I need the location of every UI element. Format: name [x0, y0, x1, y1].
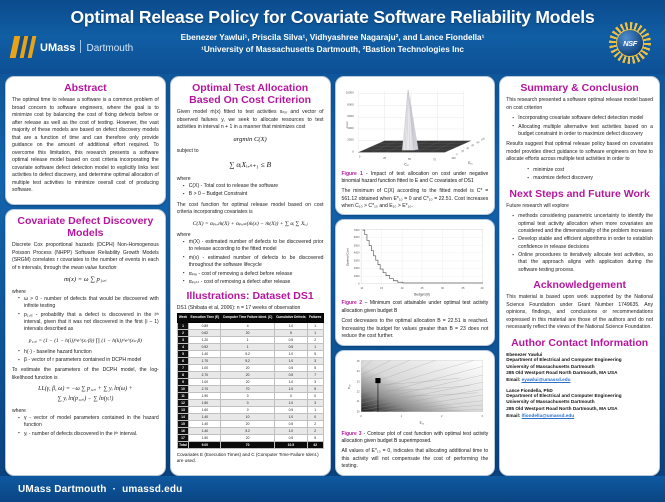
formula-loglikelihood-2: ∑ yᵢ ln(p₁,ₓᵢ) − ∑ ln(yᵢ!): [12, 396, 159, 404]
optimal-point-marker: [375, 378, 380, 383]
cost-function-intro: The cost function for optimal release mo…: [177, 202, 324, 217]
illustrations-subtitle: DS1 (Shibata et al, 2006): n = 17 weeks …: [177, 305, 324, 311]
table-cell: 1.50: [189, 399, 221, 406]
table-cell: 5.2: [221, 357, 274, 364]
nsf-logo-text: NSF: [623, 39, 637, 48]
table-cell: 3: [177, 336, 188, 343]
axis-tick: 40: [465, 146, 469, 150]
table-cell: 5: [307, 364, 323, 371]
table-head: Week Execution Time (E) Computer Time Fa…: [177, 314, 323, 323]
axis-tick: 3: [481, 413, 483, 417]
table-cell: 5: [307, 350, 323, 357]
list-item: h(·) - baseline hazard function: [19, 349, 159, 356]
table-cell: 0.5: [274, 364, 307, 371]
axis-tick: 2: [441, 413, 443, 417]
axis-label-optimal-cost: Optimal Cost: [345, 248, 349, 266]
axis-tick: 22: [356, 389, 359, 393]
loglikelihood-intro: To estimate the parameters of the DCPH m…: [12, 367, 159, 382]
table-cell: 1.70: [189, 357, 221, 364]
table-cell: 4: [177, 343, 188, 350]
figure-2-discussion: Cost decreases to the optimal allocation…: [342, 318, 489, 341]
contact-university: University of Massachusetts Dartmouth: [506, 399, 653, 406]
table-cell: 1.40: [189, 427, 221, 434]
axis-tick: 35: [461, 286, 464, 290]
allocation-subject-to: subject to: [177, 148, 324, 154]
axis-tick: 15: [380, 286, 383, 290]
table-cell: 7: [307, 371, 323, 378]
acknowledgement-body: This material is based upon work support…: [506, 294, 653, 332]
table-cell: 5.2: [221, 350, 274, 357]
contact-address: 285 Old Westport Road North Dartmouth, M…: [506, 370, 653, 377]
allocation-where-label-2: where: [177, 232, 324, 238]
table-header-row: Week Execution Time (E) Computer Time Fa…: [177, 314, 323, 323]
table-cell: 20: [221, 364, 274, 371]
axis-tick: 20: [460, 149, 464, 153]
table-row: 141.40101.00: [177, 413, 323, 420]
covariate-where-label-2: where: [12, 408, 159, 414]
illustrations-title: Illustrations: Dataset DS1: [177, 290, 324, 302]
contact-card-2: Lance Fiondella, PhD Department of Elect…: [506, 388, 653, 420]
table-cell: 5: [307, 434, 323, 441]
table-cell: 5: [274, 329, 307, 336]
table-cell: 70: [221, 385, 274, 392]
table-cell: 20: [221, 371, 274, 378]
table-cell: 0: [221, 399, 274, 406]
allocation-title: Optimal Test Allocation Based On Cost Cr…: [177, 82, 324, 106]
axis-tick: 20: [356, 409, 359, 413]
table-row: 82.70200.57: [177, 371, 323, 378]
list-item: yᵢ - number of defects discovered in the…: [19, 431, 159, 438]
nsf-globe-icon: NSF: [616, 29, 644, 57]
list-item: αₚₒₛₜ - cost of removing a defect after …: [184, 279, 324, 286]
axis-tick: 30: [441, 286, 444, 290]
axis-label-e10-contour: E₁₀: [419, 421, 424, 425]
list-item: B > 0 – Budget Constraint: [184, 191, 324, 198]
contact-email-row: Email: eyawlui@umassd.edu: [506, 377, 653, 384]
table-cell: 1: [221, 343, 274, 350]
contact-email-link[interactable]: eyawlui@umassd.edu: [522, 377, 571, 382]
figure-1-discussion: The minimum of C(X) according to the fit…: [342, 188, 489, 211]
axis-tick: 20: [400, 286, 403, 290]
contact-email-label: Email:: [506, 413, 520, 418]
table-cell-total: 9.00: [189, 441, 221, 448]
axis-label-c10-contour: C₁₀: [347, 383, 351, 388]
table-row: 171.50200.55: [177, 434, 323, 441]
table-cell: 0: [307, 392, 323, 399]
axis-label-c10: C₁₀: [404, 163, 409, 167]
axis-tick: 4000: [353, 251, 359, 255]
axis-label-budget: Budget (B): [414, 293, 429, 297]
summary-intro: This research presented a software optim…: [506, 97, 653, 112]
panel-summary-contact: Summary & Conclusion This research prese…: [499, 76, 660, 476]
umass-logo: UMassDartmouth: [12, 36, 133, 58]
contact-email-link[interactable]: lfiondella@umassd.edu: [522, 413, 575, 418]
contact-dept: Department of Electrical and Computer En…: [506, 393, 653, 400]
table-cell: 11: [177, 392, 188, 399]
axis-tick: 10: [360, 286, 363, 290]
table-cell: 1: [221, 336, 274, 343]
table-cell: 0: [221, 392, 274, 399]
table-cell: 1.0: [274, 322, 307, 329]
axis-tick: 40: [480, 286, 483, 290]
list-item: αₚᵣₑ - cost of removing a defect before …: [184, 271, 324, 278]
covariate-intro: Discrete Cox proportional hazards (DCPH)…: [12, 242, 159, 272]
table-cell: 16: [177, 427, 188, 434]
covariate-bullets-3: γ - vector of model parameters contained…: [19, 415, 159, 438]
axis-tick: 0: [352, 149, 354, 153]
footer-separator: ·: [113, 484, 117, 495]
table-cell: 9: [177, 378, 188, 385]
axis-tick: 1000: [353, 274, 359, 278]
table-row: 20.622051: [177, 329, 323, 336]
table-cell: 1.00: [189, 378, 221, 385]
figure-1-caption-text: - Impact of test allocation on cost unde…: [342, 171, 489, 184]
list-item: β - vector of r parameters contained in …: [19, 357, 159, 364]
list-item: p₁,ₓᵢ - probability that a defect is dis…: [19, 312, 159, 334]
table-cell: 1.0: [274, 357, 307, 364]
panel-test-allocation: Optimal Test Allocation Based On Cost Cr…: [170, 76, 331, 476]
summary-title: Summary & Conclusion: [506, 82, 653, 94]
panel-covariate-models: Covariate Defect Discovery Models Discre…: [5, 209, 166, 476]
contact-card-1: Ebenezer Yawlui Department of Electrical…: [506, 352, 653, 384]
column-2: Optimal Test Allocation Based On Cost Cr…: [170, 76, 331, 476]
figure-1-label: Figure 1: [342, 171, 363, 177]
table-row: 61.705.21.03: [177, 357, 323, 364]
figure-3-caption-text: - Contour plot of cost function with opt…: [342, 431, 489, 444]
table-cell: 17: [177, 434, 188, 441]
figure-2-label: Figure 2: [342, 300, 363, 306]
figure-2-caption: Figure 2 – Minimum cost attainable under…: [342, 300, 489, 315]
table-cell: 2.70: [189, 385, 221, 392]
axis-tick: 10000: [345, 91, 354, 95]
axis-tick: 2000: [353, 266, 359, 270]
axis-tick: 0: [358, 155, 360, 159]
table-cell: 10: [221, 413, 274, 420]
axis-tick: 21: [356, 399, 359, 403]
contact-email-label: Email:: [506, 377, 520, 382]
table-row: 40.9210.51: [177, 343, 323, 350]
contact-email-row: Email: lfiondella@umassd.edu: [506, 413, 653, 420]
col-header-failures: Failures: [307, 314, 323, 323]
table-cell: 8: [177, 371, 188, 378]
allocation-bullets: C(X) - Total cost to release the softwar…: [184, 183, 324, 199]
nextsteps-bullets: methods considering parametric uncertain…: [513, 213, 653, 274]
nextsteps-intro: Future research will explore: [506, 203, 653, 211]
table-cell: 0.5: [274, 434, 307, 441]
covariate-intro-italic: mean value function: [71, 265, 117, 271]
axis-tick: 23: [356, 379, 359, 383]
list-item: Develop stable and efficient algorithms …: [513, 236, 653, 251]
dataset-note: Covariates E (Execution Times) and C (Co…: [177, 452, 324, 465]
table-cell: 2: [307, 336, 323, 343]
panel-figure-1: 10000 8000 6000 4000 2000 0 Cost: [335, 76, 496, 215]
col-header-execution-time: Execution Time (E): [189, 314, 221, 323]
formula-loglikelihood-1: LL(γ, β, ω) = −ω ∑ p₁,ₓᵢ + ∑ yᵢ ln(ω) +: [12, 386, 159, 394]
summary-results: Results suggest that optimal release pol…: [506, 141, 653, 164]
table-cell: 1.40: [189, 420, 221, 427]
table-cell: 0.62: [189, 329, 221, 336]
table-row: 91.00201.03: [177, 378, 323, 385]
allocation-where-label: where: [177, 176, 324, 182]
axis-label-cost: Cost: [344, 121, 348, 127]
col-header-week: Week: [177, 314, 188, 323]
table-cell: 6: [177, 357, 188, 364]
table-cell: 1.0: [274, 413, 307, 420]
axis-tick: 8000: [347, 102, 354, 106]
table-cell-total: Total: [177, 441, 188, 448]
table-cell: 20: [221, 434, 274, 441]
col-header-cumulative-defects: Cumulative Defects: [274, 314, 307, 323]
table-cell: 0.5: [274, 336, 307, 343]
figure-2-plot: 7000 6000 5000 4000 3000 2000 1000 0 Opt…: [342, 225, 489, 298]
axis-tick: 6000: [347, 114, 354, 118]
contact-title: Author Contact Information: [506, 337, 653, 349]
table-cell: 5: [177, 350, 188, 357]
table-cell: 14: [177, 413, 188, 420]
table-cell: 1.90: [189, 392, 221, 399]
table-cell: 1.0: [274, 399, 307, 406]
axis-tick: 24: [356, 369, 359, 373]
axis-tick: 7000: [353, 228, 359, 232]
formula-argmin: argmin C(X): [177, 136, 324, 145]
axis-tick: 50: [408, 157, 411, 161]
table-cell: 5: [307, 385, 323, 392]
table-cell: 0.5: [274, 343, 307, 350]
figure-2-caption-text: – Minimum cost attainable under optimal …: [342, 300, 489, 313]
list-item: ṁ(X) - estimated number of defects to be…: [184, 239, 324, 254]
table-cell: 15: [177, 420, 188, 427]
list-item: ω > 0 - number of defects that would be …: [19, 296, 159, 311]
figure-1-caption: Figure 1 - Impact of test allocation on …: [342, 171, 489, 186]
table-cell: 20: [221, 329, 274, 336]
table-cell: 0.5: [274, 371, 307, 378]
poster: Optimal Release Policy for Covariate Sof…: [0, 0, 665, 502]
table-cell: 1.0: [274, 427, 307, 434]
contact-dept: Department of Electrical and Computer En…: [506, 357, 653, 364]
list-item: C(X) - Total cost to release the softwar…: [184, 183, 324, 190]
list-item: maximize defect discovery: [528, 175, 653, 182]
column-3: 10000 8000 6000 4000 2000 0 Cost: [335, 76, 496, 476]
table-cell: 1.20: [189, 336, 221, 343]
summary-bullets: Incorporating covariate software defect …: [513, 115, 653, 138]
table-cell-total: 42: [307, 441, 323, 448]
table-cell: 1: [307, 329, 323, 336]
list-item: ṁ(x) - estimated number of defects to be…: [184, 255, 324, 270]
table-row: 111.90000: [177, 392, 323, 399]
list-item: Allocating multiple alternative test act…: [513, 124, 653, 139]
panel-figure-2: 7000 6000 5000 4000 3000 2000 1000 0 Opt…: [335, 219, 496, 345]
formula-mean-value-function: m(x) = ω ∑ p₁,ₓᵢ: [12, 276, 159, 285]
abstract-body: The optimal time to release a software i…: [12, 97, 159, 195]
table-cell: 4: [221, 322, 274, 329]
covariate-title: Covariate Defect Discovery Models: [12, 215, 159, 239]
table-row: 161.405.21.02: [177, 427, 323, 434]
allocation-intro: Given model ṁ(x) fitted to test activiti…: [177, 109, 324, 132]
table-cell: 1.0: [274, 350, 307, 357]
table-row: 10.8941.01: [177, 322, 323, 329]
axis-tick: 2000: [347, 138, 354, 142]
footer-org: UMass Dartmouth: [18, 484, 107, 495]
table-cell: 1: [307, 322, 323, 329]
table-cell: 1: [307, 406, 323, 413]
table-cell: 13: [177, 406, 188, 413]
table-cell: 0.89: [189, 322, 221, 329]
axis-label-e10: E₁₀: [468, 161, 473, 165]
table-row: 31.2010.52: [177, 336, 323, 343]
column-4: Summary & Conclusion This research prese…: [499, 76, 660, 476]
list-item: methods considering parametric uncertain…: [513, 213, 653, 235]
axis-tick: 0: [455, 153, 458, 157]
table-body: 10.8941.0120.62205131.2010.5240.9210.515…: [177, 322, 323, 448]
surface-peak: [402, 89, 418, 150]
list-item: Online procedures to iteratively allocat…: [513, 252, 653, 274]
summary-subbullets: minimize cost maximize defect discovery: [528, 167, 653, 183]
table-cell: 7: [177, 364, 188, 371]
table-cell: 2: [307, 420, 323, 427]
contour-plot-svg: 25 24 23 22 21 20 C₁₀ 0 1 2 3: [342, 356, 489, 429]
table-cell: 0.5: [274, 420, 307, 427]
contact-university: University of Massachusetts Dartmouth: [506, 364, 653, 371]
acknowledgement-title: Acknowledgement: [506, 279, 653, 291]
table-cell: 1.40: [189, 350, 221, 357]
umass-mark-icon: [10, 36, 37, 58]
table-cell: 1.60: [189, 406, 221, 413]
panel-figure-3: 25 24 23 22 21 20 C₁₀ 0 1 2 3: [335, 350, 496, 476]
axis-tick: 60: [471, 143, 475, 147]
contact-address: 285 Old Westport Road North Dartmouth, M…: [506, 406, 653, 413]
formula-cost-function: C(X) = αₚᵣₑṁ(X) + αₚₒₛₜ(ṁ(x) − ṁ(X)) + ∑…: [177, 221, 324, 228]
figure-1-plot: 10000 8000 6000 4000 2000 0 Cost: [342, 82, 489, 169]
axis-tick: 0: [360, 413, 362, 417]
footer-content: UMass Dartmouth·umassd.edu: [18, 484, 182, 495]
axis-tick: 75: [432, 158, 435, 162]
table-cell: 0.92: [189, 343, 221, 350]
allocation-bullets-2: ṁ(X) - estimated number of defects to be…: [184, 239, 324, 286]
figure-3-label: Figure 3: [342, 431, 362, 437]
table-cell: 3: [307, 399, 323, 406]
logo-divider: [80, 40, 81, 53]
axis-tick: 1: [400, 413, 402, 417]
dataset-ds1-table: Week Execution Time (E) Computer Time Fa…: [177, 313, 324, 449]
table-row: 51.405.21.05: [177, 350, 323, 357]
page-title: Optimal Release Policy for Covariate Sof…: [0, 0, 665, 28]
table-row: 151.40200.52: [177, 420, 323, 427]
umass-logo-text: UMassDartmouth: [40, 40, 133, 54]
axis-tick: 100: [480, 137, 486, 142]
table-cell: 1.40: [189, 413, 221, 420]
axis-tick: 3000: [353, 259, 359, 263]
axis-tick: 5000: [353, 243, 359, 247]
figure-3-caption: Figure 3 - Contour plot of cost function…: [342, 431, 489, 446]
table-cell: 1: [307, 343, 323, 350]
axis-tick: 25: [356, 358, 359, 362]
covariate-bullets: ω > 0 - number of defects that would be …: [19, 296, 159, 334]
table-cell: 3: [307, 378, 323, 385]
table-cell-total: 70: [221, 441, 274, 448]
axis-tick: 25: [383, 156, 386, 160]
table-cell: 20: [221, 378, 274, 385]
table-cell: 3: [307, 357, 323, 364]
nextsteps-title: Next Steps and Future Work: [506, 188, 653, 200]
axis-tick: 80: [476, 140, 480, 144]
table-cell: 2: [177, 329, 188, 336]
table-cell: 5.2: [221, 427, 274, 434]
table-cell: 0: [221, 406, 274, 413]
abstract-title: Abstract: [12, 82, 159, 94]
list-item: Incorporating covariate software defect …: [513, 115, 653, 122]
nsf-logo: NSF: [609, 22, 651, 64]
poster-columns: Abstract The optimal time to release a s…: [0, 76, 665, 476]
figure-3-discussion: All values of E*₁₀ = 0, indicates that a…: [342, 448, 489, 471]
list-item: γ - vector of model parameters contained…: [19, 415, 159, 430]
line-chart-svg: 7000 6000 5000 4000 3000 2000 1000 0 Opt…: [342, 225, 489, 298]
covariate-bullets-2: h(·) - baseline hazard function β - vect…: [19, 349, 159, 365]
table-cell: 1.0: [274, 378, 307, 385]
table-cell: 1.50: [189, 434, 221, 441]
poster-footer: UMass Dartmouth·umassd.edu: [0, 476, 665, 502]
column-1: Abstract The optimal time to release a s…: [5, 76, 166, 476]
table-row: 102.70701.05: [177, 385, 323, 392]
umass-logo-subtitle: Dartmouth: [86, 43, 133, 54]
covariate-where-label: where: [12, 289, 159, 295]
table-row: 121.5001.03: [177, 399, 323, 406]
surface-plot-svg: 10000 8000 6000 4000 2000 0 Cost: [342, 82, 489, 169]
col-header-computer-time: Computer Time Failure Ident. (C): [221, 314, 274, 323]
axis-tick: 100: [451, 156, 456, 160]
table-cell-total: 10.5: [274, 441, 307, 448]
table-cell: 10: [177, 385, 188, 392]
table-cell: 2.70: [189, 371, 221, 378]
table-total-row: Total9.007010.542: [177, 441, 323, 448]
formula-budget-constraint: ∑ αᵢXᵢ,ₙ₊₁ ≤ B: [177, 160, 324, 170]
table-cell: 0.5: [274, 406, 307, 413]
axis-tick: 0: [358, 282, 360, 286]
table-row: 71.00200.55: [177, 364, 323, 371]
table-cell: 1.00: [189, 364, 221, 371]
table-cell: 20: [221, 420, 274, 427]
panel-abstract: Abstract The optimal time to release a s…: [5, 76, 166, 205]
footer-url[interactable]: umassd.edu: [122, 484, 182, 495]
table-row: 131.6000.51: [177, 406, 323, 413]
table-cell: 1.0: [274, 385, 307, 392]
table-cell: 1: [177, 322, 188, 329]
formula-probability: p₁,ₓᵢ = (1 − (1 − h(i))^e^(xᵢ·β)) ∏ (1 −…: [12, 338, 159, 345]
table-cell: 0: [274, 392, 307, 399]
list-item: minimize cost: [528, 167, 653, 174]
table-cell: 2: [307, 427, 323, 434]
poster-header: Optimal Release Policy for Covariate Sof…: [0, 0, 665, 74]
table-cell: 0: [307, 413, 323, 420]
umass-logo-name: UMass: [40, 42, 75, 54]
table-cell: 12: [177, 399, 188, 406]
axis-tick: 25: [420, 286, 423, 290]
axis-tick: 6000: [353, 235, 359, 239]
figure-3-plot: 25 24 23 22 21 20 C₁₀ 0 1 2 3: [342, 356, 489, 429]
